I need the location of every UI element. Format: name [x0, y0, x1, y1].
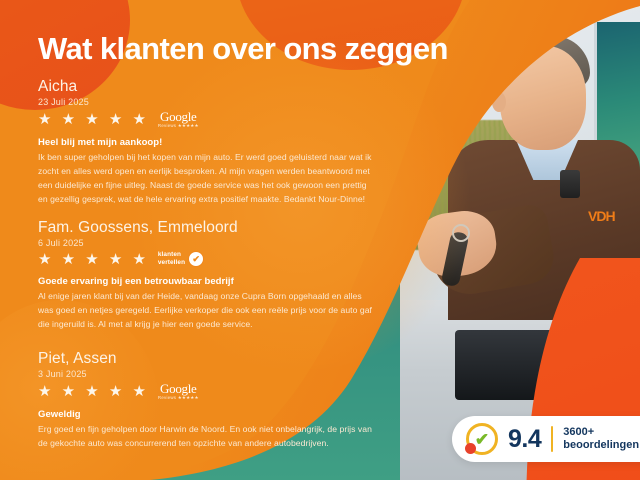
review-date: 6 Juli 2025	[38, 238, 378, 248]
google-reviews-logo: Google Reviews ★★★★★	[158, 382, 199, 400]
google-reviews-logo: Google Reviews ★★★★★	[158, 110, 199, 128]
review-card-2: Fam. Goossens, Emmeloord 6 Juli 2025 ★ ★…	[38, 219, 378, 332]
kv-line-1: klanten	[158, 251, 185, 259]
verified-check-icon: ✔	[466, 423, 498, 455]
rating-score: 9.4	[508, 427, 541, 452]
reviewer-name: Fam. Goossens, Emmeloord	[38, 219, 378, 236]
content-layer: Wat klanten over ons zeggen Aicha 23 Jul…	[0, 0, 640, 480]
star-rating: ★ ★ ★ ★ ★	[38, 252, 149, 267]
testimonial-banner: VDH Wat klanten over ons zeggen Aicha 23…	[0, 0, 640, 480]
klantenvertellen-logo: klanten vertellen ✔	[158, 251, 204, 267]
review-body: Al enige jaren klant bij van der Heide, …	[38, 290, 378, 332]
star-rating: ★ ★ ★ ★ ★	[38, 384, 149, 399]
review-card-3: Piet, Assen 3 Juni 2025 ★ ★ ★ ★ ★ Google…	[38, 350, 378, 451]
rating-badge[interactable]: ✔ 9.4 3600+ beoordelingen	[452, 416, 640, 462]
rating-label: beoordelingen	[563, 439, 639, 452]
review-title: Heel blij met mijn aankoop!	[38, 137, 378, 148]
page-title: Wat klanten over ons zeggen	[38, 31, 448, 67]
review-body: Erg goed en fijn geholpen door Harwin de…	[38, 423, 378, 451]
rating-divider	[551, 426, 553, 452]
rating-count: 3600+	[563, 426, 639, 439]
google-reviews-sublabel: Reviews ★★★★★	[158, 124, 199, 128]
review-meta-1: ★ ★ ★ ★ ★ Google Reviews ★★★★★	[38, 110, 378, 128]
klantenvertellen-wordmark: klanten vertellen	[158, 251, 185, 267]
review-date: 23 Juli 2025	[38, 97, 378, 107]
rating-count-block: 3600+ beoordelingen	[563, 426, 639, 453]
review-body: Ik ben super geholpen bij het kopen van …	[38, 151, 378, 207]
kv-check-seal-icon: ✔	[188, 251, 204, 267]
google-wordmark: Google	[158, 110, 199, 123]
check-glyph: ✔	[475, 431, 489, 448]
review-card-1: Aicha 23 Juli 2025 ★ ★ ★ ★ ★ Google Revi…	[38, 78, 378, 207]
kv-line-2: vertellen	[158, 259, 185, 267]
review-title: Geweldig	[38, 409, 378, 420]
reviewer-name: Aicha	[38, 78, 378, 95]
review-date: 3 Juni 2025	[38, 369, 378, 379]
review-title: Goede ervaring bij een betrouwbaar bedri…	[38, 276, 378, 287]
google-reviews-sublabel: Reviews ★★★★★	[158, 396, 199, 400]
review-meta-3: ★ ★ ★ ★ ★ Google Reviews ★★★★★	[38, 382, 378, 400]
reviewer-name: Piet, Assen	[38, 350, 378, 367]
review-meta-2: ★ ★ ★ ★ ★ klanten vertellen ✔	[38, 251, 378, 267]
star-rating: ★ ★ ★ ★ ★	[38, 112, 149, 127]
google-wordmark: Google	[158, 382, 199, 395]
